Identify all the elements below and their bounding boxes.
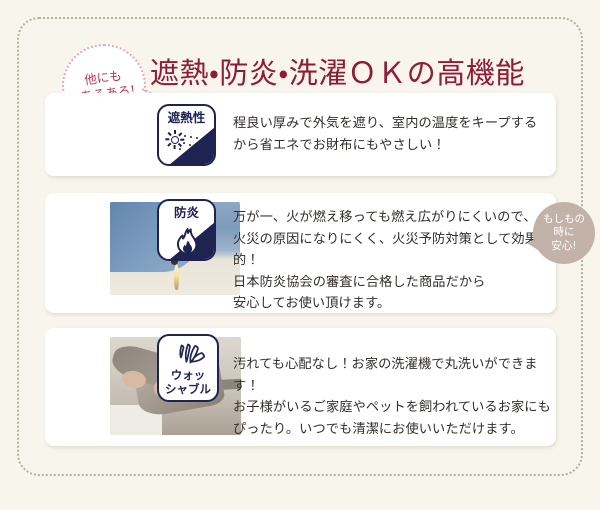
feature-card-flame-resistant: 防炎 万が一、火が燃え移っても燃え広がりにくいので、 火災の原因になりにくく、火…	[45, 193, 556, 313]
sun-core	[171, 136, 179, 144]
page-root: 他にも あるある! 遮熱・防炎・洗濯ＯＫの高機能 遮熱性	[0, 0, 600, 510]
flame-resistant-description: 万が一、火が燃え移っても燃え広がりにくいので、 火災の原因になりにくく、火災予防…	[233, 207, 556, 315]
flame-resistant-icon: 防炎	[157, 199, 216, 261]
heat-shield-description: 程良い厚みで外気を遮り、室内の温度をキープする から省エネでお財布にもやさしい！	[233, 113, 537, 156]
photo-flame-shape	[174, 264, 179, 290]
sun-icon	[167, 132, 182, 147]
callout-line2: 時に	[554, 226, 575, 240]
washable-icon-label-line1: ウォッ	[159, 368, 217, 382]
washable-icon-label-line2: シャブル	[159, 382, 217, 396]
feature-card-heat-shield: 遮熱性	[45, 93, 556, 176]
page-header: 他にも あるある! 遮熱・防炎・洗濯ＯＫの高機能	[0, 24, 600, 96]
flame-resistant-icon-label: 防炎	[159, 206, 214, 220]
feature-card-washable: ウォッ シャブル 汚れても心配なし！お家の洗濯機で丸洗いができます！ お子様がい…	[45, 328, 556, 446]
reassurance-callout: もしもの 時に 安心!	[533, 202, 595, 264]
heat-shield-icon-label: 遮熱性	[159, 111, 214, 125]
callout-line3: 安心!	[551, 240, 576, 254]
heat-shield-icon: 遮熱性	[157, 104, 216, 166]
washable-icon-label: ウォッ シャブル	[159, 368, 217, 396]
flame-glyph	[173, 227, 201, 257]
washable-icon: ウォッ シャブル	[157, 334, 219, 402]
callout-text: もしもの 時に 安心!	[533, 202, 595, 264]
page-title: 遮熱・防炎・洗濯ＯＫの高機能	[150, 56, 525, 90]
washable-description: 汚れても心配なし！お家の洗濯機で丸洗いができます！ お子様がいるご家庭やペットを…	[233, 354, 556, 440]
water-splash-glyph	[173, 343, 207, 369]
callout-line1: もしもの	[543, 213, 585, 227]
